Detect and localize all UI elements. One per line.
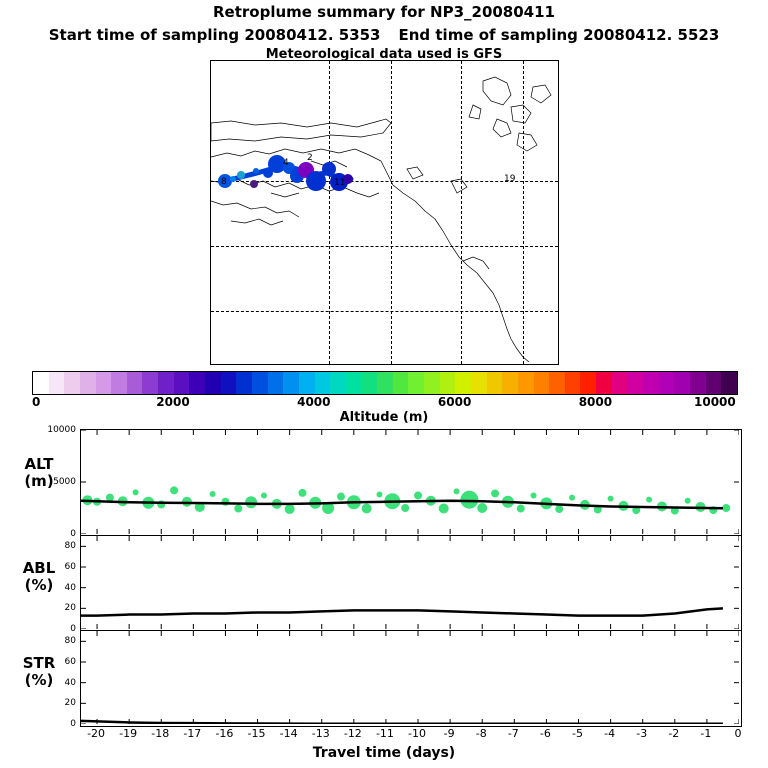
y-tick-label: 20 — [32, 698, 76, 708]
alt-data-point — [477, 503, 487, 513]
alt-data-point — [133, 489, 139, 495]
x-tick-label: -7 — [496, 727, 530, 740]
y-tick-label: 5000 — [32, 477, 76, 487]
retroplume-map: 1984211 — [210, 60, 559, 365]
alt-data-point — [414, 492, 422, 500]
colorbar-swatch — [189, 372, 205, 394]
x-axis-title: Travel time (days) — [0, 745, 768, 761]
colorbar-tick: 6000 — [438, 395, 471, 409]
alt-data-point — [170, 486, 178, 494]
colorbar-swatch — [612, 372, 628, 394]
colorbar-swatch — [393, 372, 409, 394]
colorbar-swatch — [127, 372, 143, 394]
colorbar-swatch — [674, 372, 690, 394]
y-tick-label: 60 — [32, 562, 76, 572]
x-tick-label: -16 — [207, 727, 241, 740]
alt-data-point — [234, 505, 242, 513]
colorbar-swatch — [721, 372, 737, 394]
abl-panel — [80, 535, 742, 632]
colorbar-swatch — [643, 372, 659, 394]
colorbar-swatch — [111, 372, 127, 394]
colorbar-swatch — [377, 372, 393, 394]
x-tick-label: -10 — [400, 727, 434, 740]
page-title: Retroplume summary for NP3_20080411 — [0, 3, 768, 21]
x-tick-label: 0 — [721, 727, 755, 740]
colorbar-swatch — [408, 372, 424, 394]
y-tick-label: 60 — [32, 657, 76, 667]
y-tick-label: 80 — [32, 541, 76, 551]
alt-panel — [80, 429, 742, 537]
map-point-label: 11 — [334, 178, 345, 188]
x-tick-label: -3 — [625, 727, 659, 740]
x-tick-label: -11 — [368, 727, 402, 740]
colorbar-swatch — [518, 372, 534, 394]
x-tick-label: -14 — [272, 727, 306, 740]
colorbar-swatch — [424, 372, 440, 394]
x-tick-label: -8 — [464, 727, 498, 740]
alt-data-point — [531, 493, 537, 499]
sampling-times: Start time of sampling 20080412. 5353End… — [0, 26, 768, 44]
x-tick-label: -6 — [528, 727, 562, 740]
map-point-label: 4 — [283, 158, 289, 168]
colorbar-swatch — [205, 372, 221, 394]
alt-plot — [81, 430, 739, 534]
colorbar-swatch — [471, 372, 487, 394]
alt-data-point — [337, 493, 345, 501]
map-plume-marker — [322, 162, 336, 176]
map-plume-marker — [237, 171, 245, 179]
start-time-label: Start time of sampling 20080412. 5353 — [49, 26, 381, 44]
colorbar-tick: 4000 — [297, 395, 330, 409]
colorbar-swatch — [361, 372, 377, 394]
y-tick-label: 0 — [32, 624, 76, 634]
abl-mean-line — [81, 608, 723, 615]
alt-data-point — [439, 504, 449, 514]
colorbar-swatch — [596, 372, 612, 394]
map-point-label: 19 — [504, 174, 515, 184]
y-tick-label: 20 — [32, 603, 76, 613]
alt-data-point — [362, 504, 372, 514]
colorbar-tick-labels: 0200040006000800010000 — [0, 395, 768, 409]
colorbar-tick: 8000 — [579, 395, 612, 409]
colorbar-swatch — [64, 372, 80, 394]
colorbar-swatch — [706, 372, 722, 394]
colorbar-swatch — [142, 372, 158, 394]
altitude-colorbar — [32, 371, 738, 395]
colorbar-swatch — [158, 372, 174, 394]
alt-data-point — [517, 505, 525, 513]
x-tick-label: -13 — [304, 727, 338, 740]
x-tick-label: -17 — [175, 727, 209, 740]
colorbar-swatch — [33, 372, 49, 394]
map-plume-marker — [250, 180, 258, 188]
map-plume-marker — [253, 168, 259, 174]
colorbar-swatch — [455, 372, 471, 394]
map-point-label: 8 — [221, 177, 227, 187]
colorbar-swatch — [236, 372, 252, 394]
colorbar-swatch — [174, 372, 190, 394]
colorbar-tick: 2000 — [156, 395, 189, 409]
x-tick-label: -12 — [336, 727, 370, 740]
colorbar-swatch — [283, 372, 299, 394]
map-plume-marker — [306, 171, 326, 191]
x-tick-label: -20 — [79, 727, 113, 740]
str-mean-line — [81, 721, 723, 724]
x-tick-label: -9 — [432, 727, 466, 740]
map-point-label: 2 — [307, 153, 313, 163]
str-panel — [80, 630, 742, 727]
alt-data-point — [569, 495, 575, 501]
colorbar-swatch — [440, 372, 456, 394]
alt-data-point — [685, 498, 691, 504]
colorbar-swatch — [690, 372, 706, 394]
y-tick-label: 80 — [32, 636, 76, 646]
x-tick-label: -19 — [111, 727, 145, 740]
alt-data-point — [285, 504, 295, 514]
alt-data-point — [608, 496, 614, 502]
colorbar-swatch — [549, 372, 565, 394]
x-tick-label: -4 — [593, 727, 627, 740]
colorbar-swatch — [299, 372, 315, 394]
colorbar-swatch — [487, 372, 503, 394]
x-tick-label: -15 — [240, 727, 274, 740]
y-tick-label: 0 — [32, 719, 76, 729]
x-tick-label: -18 — [143, 727, 177, 740]
end-time-label: End time of sampling 20080412. 5523 — [399, 26, 720, 44]
y-tick-label: 10000 — [32, 425, 76, 435]
y-tick-label: 0 — [32, 529, 76, 539]
alt-data-point — [555, 505, 563, 513]
colorbar-swatch — [534, 372, 550, 394]
alt-data-point — [491, 489, 499, 497]
colorbar-swatch — [330, 372, 346, 394]
colorbar-swatch — [268, 372, 284, 394]
colorbar-swatch — [580, 372, 596, 394]
colorbar-swatch — [565, 372, 581, 394]
alt-data-point — [454, 488, 460, 494]
alt-data-point — [401, 504, 409, 512]
alt-data-point — [377, 491, 383, 497]
alt-data-point — [298, 489, 306, 497]
x-tick-label: -5 — [561, 727, 595, 740]
x-tick-label: -1 — [689, 727, 723, 740]
colorbar-swatch — [221, 372, 237, 394]
map-plume-marker — [230, 176, 236, 182]
colorbar-swatch — [346, 372, 362, 394]
colorbar-title: Altitude (m) — [0, 410, 768, 425]
colorbar-swatch — [502, 372, 518, 394]
map-trajectory-markers — [211, 61, 556, 362]
str-plot — [81, 631, 739, 724]
y-tick-label: 40 — [32, 678, 76, 688]
colorbar-swatch — [659, 372, 675, 394]
colorbar-swatch — [80, 372, 96, 394]
alt-data-point — [722, 504, 730, 512]
alt-data-point — [245, 496, 257, 508]
abl-plot — [81, 536, 739, 629]
colorbar-swatch — [96, 372, 112, 394]
figure-root: Retroplume summary for NP3_20080411 Star… — [0, 0, 768, 768]
colorbar-swatch — [49, 372, 65, 394]
colorbar-swatch — [252, 372, 268, 394]
x-tick-label: -2 — [657, 727, 691, 740]
alt-data-point — [261, 493, 267, 499]
y-tick-label: 40 — [32, 583, 76, 593]
colorbar-swatch — [315, 372, 331, 394]
colorbar-tick: 0 — [32, 395, 40, 409]
alt-data-point — [646, 497, 652, 503]
colorbar-tick: 10000 — [694, 395, 736, 409]
colorbar-swatch — [627, 372, 643, 394]
alt-data-point — [210, 491, 216, 497]
